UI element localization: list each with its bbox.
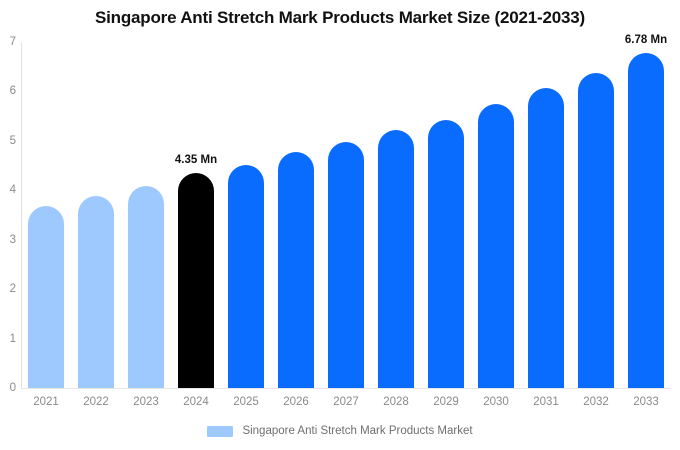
plot-area xyxy=(21,42,671,388)
y-axis-tick-1: 1 xyxy=(0,333,16,345)
x-axis-tick-2031: 2031 xyxy=(518,396,574,408)
bar-2032[interactable] xyxy=(578,73,614,388)
bar-2023[interactable] xyxy=(128,186,164,388)
y-axis-tick-4: 4 xyxy=(0,184,16,196)
x-axis-tick-2030: 2030 xyxy=(468,396,524,408)
legend-item-label: Singapore Anti Stretch Mark Products Mar… xyxy=(242,425,472,437)
bar-2021[interactable] xyxy=(28,206,64,388)
bar-2022[interactable] xyxy=(78,196,114,388)
bar-2027[interactable] xyxy=(328,142,364,388)
legend-swatch-icon xyxy=(207,426,233,437)
chart-title: Singapore Anti Stretch Mark Products Mar… xyxy=(0,8,680,28)
chart-container: Singapore Anti Stretch Mark Products Mar… xyxy=(0,0,680,450)
bar-2025[interactable] xyxy=(228,165,264,388)
y-axis-tick-5: 5 xyxy=(0,135,16,147)
x-axis-tick-2028: 2028 xyxy=(368,396,424,408)
chart-legend: Singapore Anti Stretch Mark Products Mar… xyxy=(0,425,680,437)
x-axis-tick-2021: 2021 xyxy=(18,396,74,408)
bar-2031[interactable] xyxy=(528,88,564,388)
x-axis-tick-2029: 2029 xyxy=(418,396,474,408)
x-axis-tick-2025: 2025 xyxy=(218,396,274,408)
x-axis-tick-2032: 2032 xyxy=(568,396,624,408)
y-axis-tick-7: 7 xyxy=(0,36,16,48)
bar-2030[interactable] xyxy=(478,104,514,388)
y-axis-tick-3: 3 xyxy=(0,234,16,246)
y-axis-tick-6: 6 xyxy=(0,85,16,97)
x-axis-tick-2026: 2026 xyxy=(268,396,324,408)
bar-2033[interactable] xyxy=(628,53,664,388)
x-axis-tick-2033: 2033 xyxy=(618,396,674,408)
x-axis-tick-2022: 2022 xyxy=(68,396,124,408)
value-label-2024: 4.35 Mn xyxy=(156,154,236,166)
bar-2026[interactable] xyxy=(278,152,314,388)
value-label-2033: 6.78 Mn xyxy=(606,34,680,46)
bar-2028[interactable] xyxy=(378,130,414,388)
x-axis-line xyxy=(21,388,671,389)
x-axis-tick-2027: 2027 xyxy=(318,396,374,408)
y-axis-tick-2: 2 xyxy=(0,283,16,295)
x-axis-tick-2023: 2023 xyxy=(118,396,174,408)
bar-2029[interactable] xyxy=(428,120,464,388)
x-axis-tick-2024: 2024 xyxy=(168,396,224,408)
y-axis-tick-0: 0 xyxy=(0,382,16,394)
bar-2024[interactable] xyxy=(178,173,214,388)
